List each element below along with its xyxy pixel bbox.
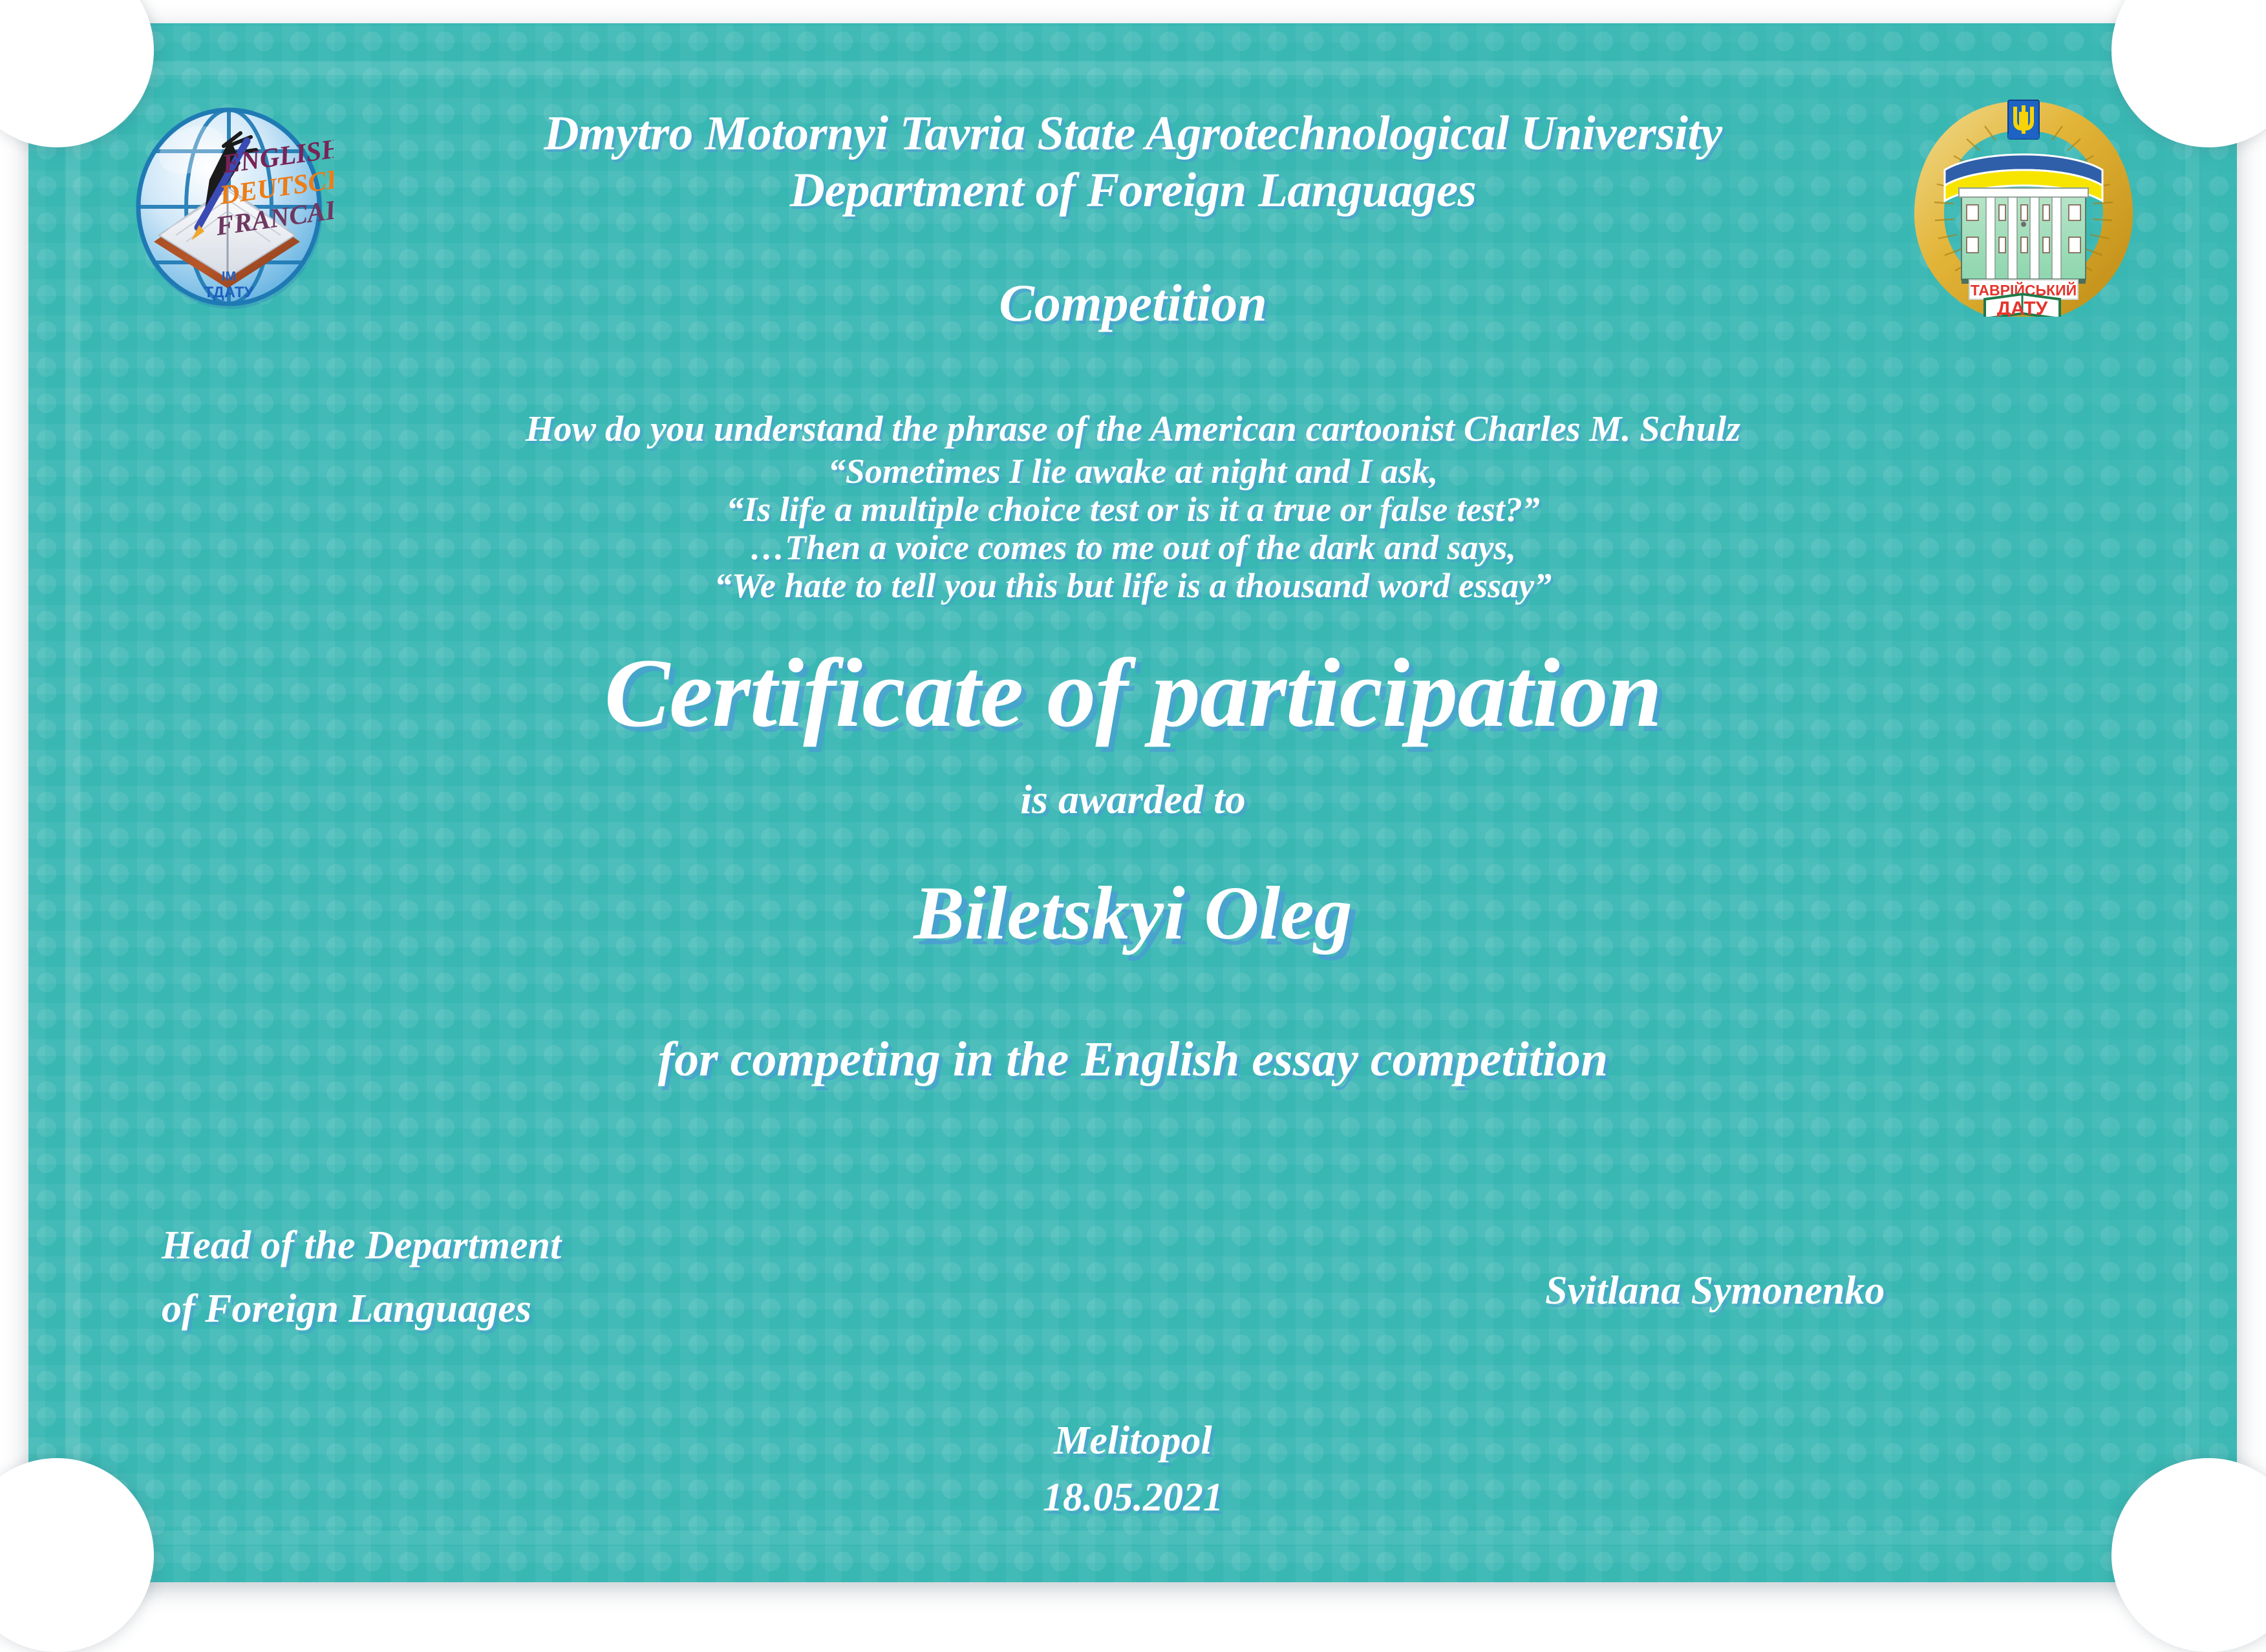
prompt-quote-line: “We hate to tell you this but life is a … — [0, 567, 2266, 605]
signer-role-line2: of Foreign Languages — [162, 1277, 561, 1340]
prompt-quote-line: “Sometimes I lie awake at night and I as… — [0, 452, 2266, 491]
prompt-quote-line: “Is life a multiple choice test or is it… — [0, 491, 2266, 529]
issue-place: Melitopol — [0, 1418, 2266, 1464]
signer-name: Svitlana Symonenko — [1545, 1268, 1885, 1314]
signer-role-line1: Head of the Department — [162, 1214, 561, 1277]
issue-date: 18.05.2021 — [0, 1475, 2266, 1521]
certificate-title: Certificate of participation — [0, 637, 2266, 749]
department-name: Department of Foreign Languages — [0, 163, 2266, 218]
recipient-name: Biletskyi Oleg — [0, 869, 2266, 957]
university-name: Dmytro Motornyi Tavria State Agrotechnol… — [0, 106, 2266, 162]
prompt-lead-text: How do you understand the phrase of the … — [0, 408, 2266, 450]
prompt-quote-block: “Sometimes I lie awake at night and I as… — [0, 452, 2266, 605]
awarded-to-label: is awarded to — [0, 776, 2266, 823]
award-reason: for competing in the English essay compe… — [0, 1032, 2266, 1088]
prompt-quote-line: …Then a voice comes to me out of the dar… — [0, 529, 2266, 567]
certificate: ENGLISH ENGLISH DEUTSCH DEUTSCH FRANCAIS… — [0, 0, 2266, 1607]
signer-role: Head of the Department of Foreign Langua… — [162, 1214, 561, 1340]
event-title: Competition — [0, 273, 2266, 334]
